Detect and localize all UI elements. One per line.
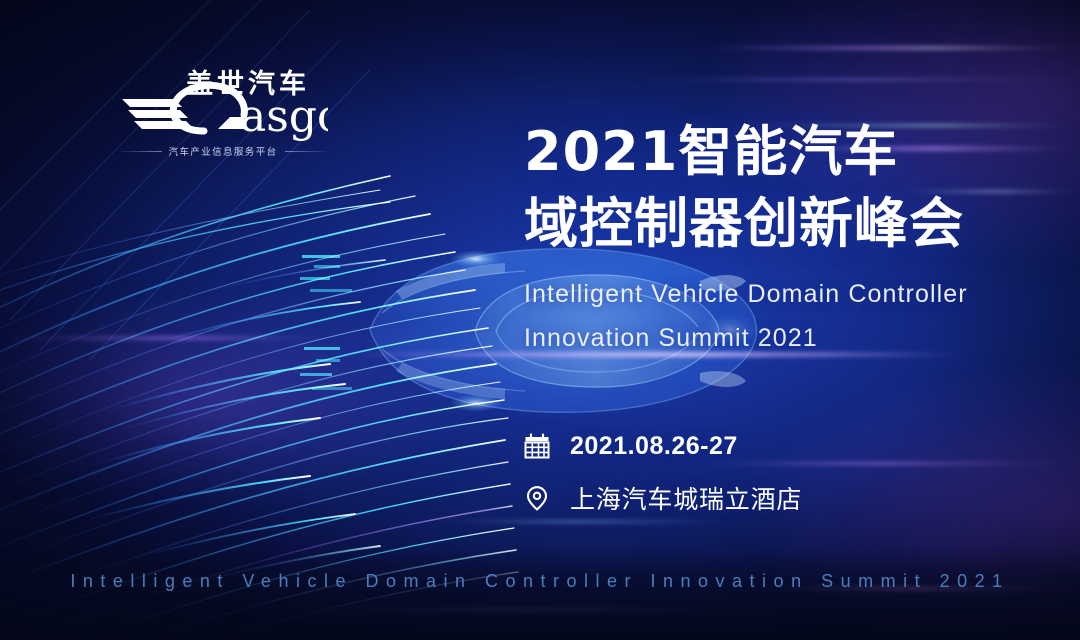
tagline-rule-left (120, 151, 162, 152)
logo-tagline: 汽车产业信息服务平台 (169, 144, 278, 158)
gasgoo-logo[interactable]: 盖世汽车 asgoo 汽车产业信息服务平台 (118, 62, 328, 140)
tagline-rule-right (285, 151, 327, 152)
subtitle-line-1: Intelligent Vehicle Domain Controller (524, 272, 1044, 316)
map-pin-icon (522, 483, 552, 513)
bottom-band-text: Intelligent Vehicle Domain Controller In… (0, 571, 1080, 592)
gasgoo-g-speed-icon: asgoo (118, 79, 328, 141)
headline-line-1: 2021智能汽车 (524, 116, 1044, 188)
headline-line-2: 域控制器创新峰会 (524, 188, 1044, 260)
event-date-row: 2021.08.26-27 (522, 420, 802, 472)
event-location-value: 上海汽车城瑞立酒店 (570, 480, 802, 516)
event-date-value: 2021.08.26-27 (570, 432, 738, 461)
headline: 2021智能汽车 域控制器创新峰会 (524, 116, 1044, 260)
logo-tagline-row: 汽车产业信息服务平台 (120, 144, 326, 158)
calendar-icon (522, 431, 552, 461)
subtitle: Intelligent Vehicle Domain Controller In… (524, 272, 1044, 360)
event-location-row: 上海汽车城瑞立酒店 (522, 472, 802, 524)
event-info: 2021.08.26-27 上海汽车城瑞立酒店 (522, 420, 802, 524)
svg-text:asgoo: asgoo (240, 91, 328, 141)
subtitle-line-2: Innovation Summit 2021 (524, 316, 1044, 360)
event-banner: 盖世汽车 asgoo 汽车产业信息服务平台 2021智能汽车 (0, 0, 1080, 640)
